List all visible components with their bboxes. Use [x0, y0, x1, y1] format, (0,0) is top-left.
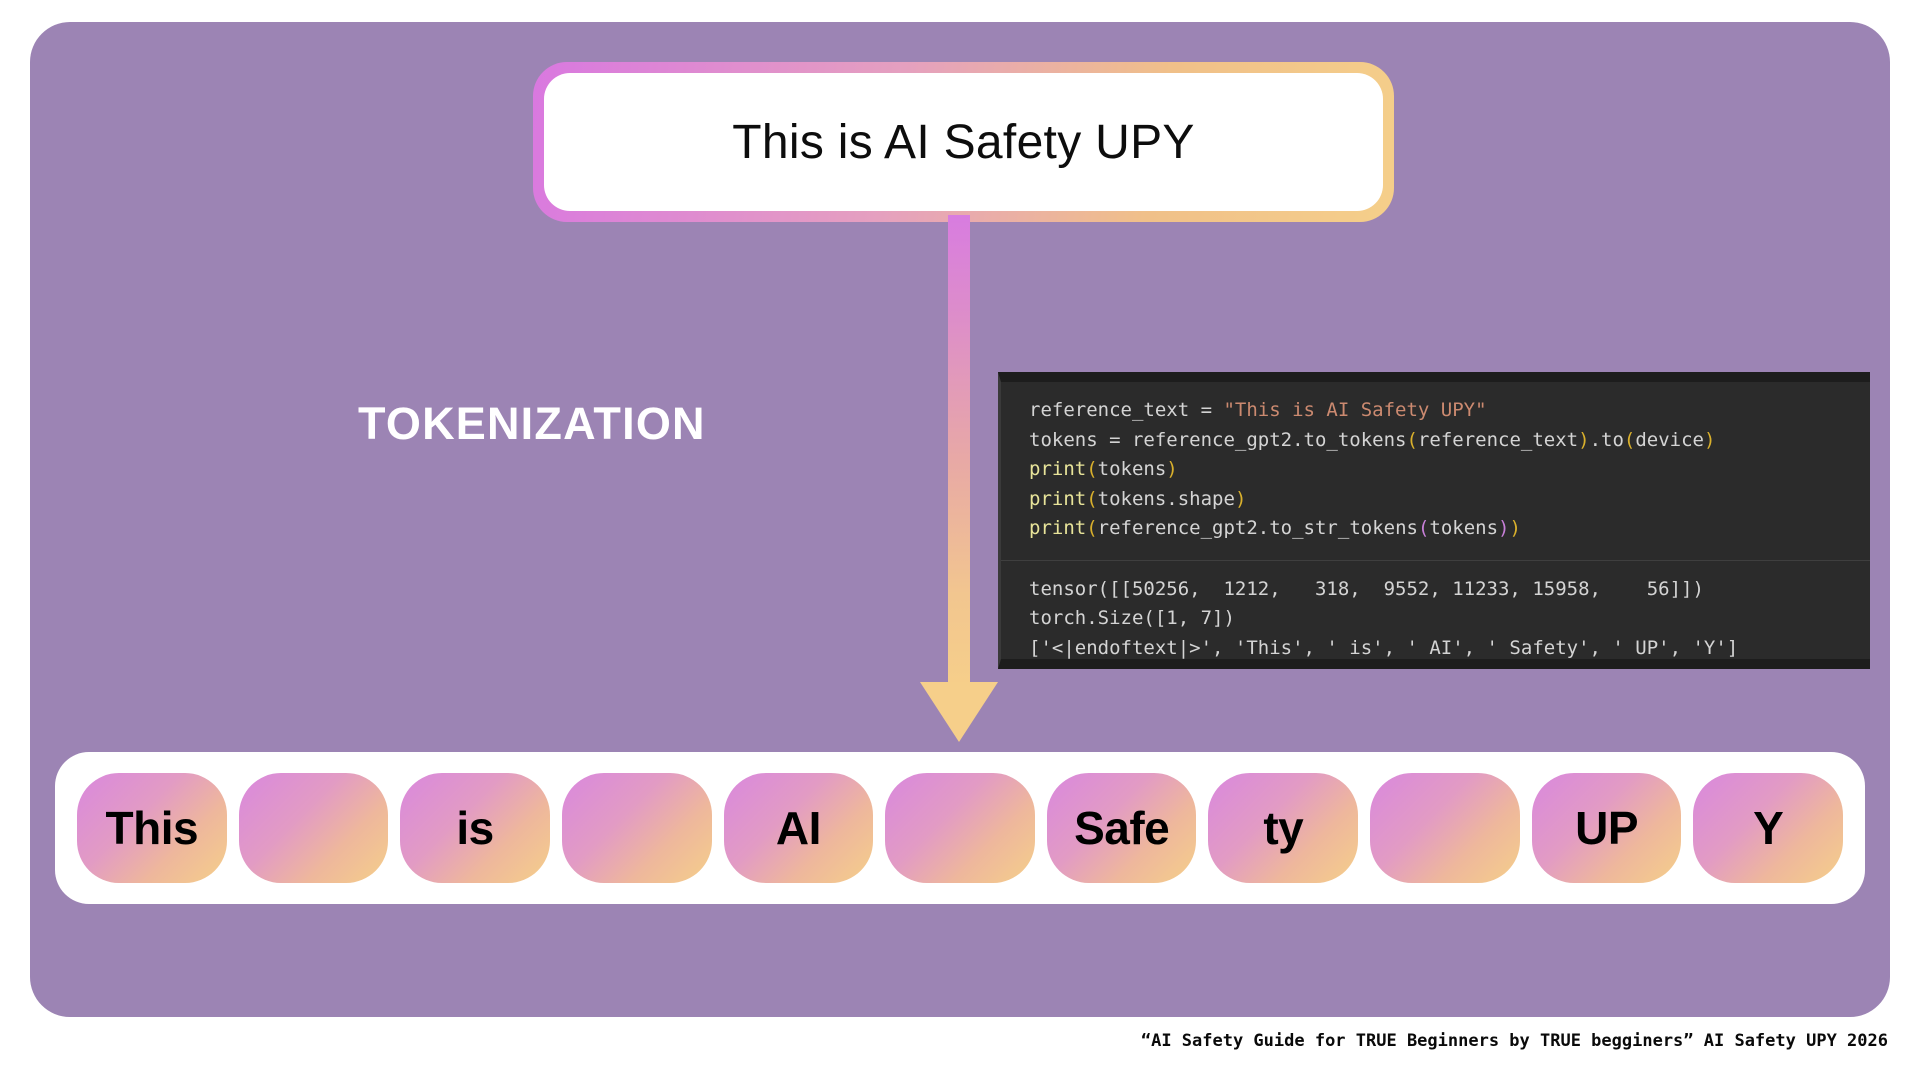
code-line: print(tokens.shape) — [1029, 485, 1870, 515]
stage-label-tokenization: TOKENIZATION — [358, 398, 706, 450]
code-output-line: tensor([[50256, 1212, 318, 9552, 11233, … — [1029, 575, 1870, 605]
code-token: ) — [1704, 429, 1715, 451]
flow-arrow-shaft — [948, 215, 970, 690]
footer-credit: “AI Safety Guide for TRUE Beginners by T… — [1141, 1031, 1888, 1051]
token-chip[interactable] — [1370, 773, 1520, 883]
token-chip-label: This — [106, 801, 199, 855]
code-token: ( — [1624, 429, 1635, 451]
code-token: ) — [1166, 458, 1177, 480]
code-token: ( — [1086, 458, 1097, 480]
token-chip[interactable]: Safe — [1047, 773, 1197, 883]
token-chip[interactable]: is — [400, 773, 550, 883]
token-chip-label: Y — [1753, 801, 1783, 855]
code-token: ) — [1498, 517, 1509, 539]
token-chip-label: is — [456, 801, 493, 855]
code-panel: reference_text = "This is AI Safety UPY"… — [998, 372, 1870, 669]
code-token: reference_gpt2.to_str_tokens — [1098, 517, 1418, 539]
code-token: device — [1635, 429, 1704, 451]
code-output-section: tensor([[50256, 1212, 318, 9552, 11233, … — [1001, 561, 1870, 670]
code-token: tokens.shape — [1098, 488, 1235, 510]
code-token: ( — [1407, 429, 1418, 451]
code-token: ( — [1418, 517, 1429, 539]
code-source-section: reference_text = "This is AI Safety UPY"… — [1001, 382, 1870, 554]
token-chip[interactable]: Y — [1693, 773, 1843, 883]
code-token: ) — [1578, 429, 1589, 451]
input-text-box[interactable]: This is AI Safety UPY — [533, 62, 1394, 222]
code-token: reference_text = — [1029, 399, 1223, 421]
token-chip-label: Safe — [1074, 801, 1169, 855]
code-line: reference_text = "This is AI Safety UPY" — [1029, 396, 1870, 426]
token-chip[interactable]: UP — [1532, 773, 1682, 883]
flow-arrow-head-icon — [920, 682, 998, 742]
code-token: ( — [1086, 517, 1097, 539]
code-token: .to — [1590, 429, 1624, 451]
code-token: print — [1029, 488, 1086, 510]
token-chip[interactable]: AI — [724, 773, 874, 883]
code-token: "This is AI Safety UPY" — [1223, 399, 1486, 421]
token-chip-strip: ThisisAISafetyUPY — [55, 752, 1865, 904]
code-token: ( — [1086, 488, 1097, 510]
token-chip-label: UP — [1575, 801, 1638, 855]
code-token: print — [1029, 517, 1086, 539]
code-token: print — [1029, 458, 1086, 480]
input-text-box-inner: This is AI Safety UPY — [544, 73, 1383, 211]
code-token: tokens — [1429, 517, 1498, 539]
token-chip-label: AI — [776, 801, 821, 855]
slide-root: This is AI Safety UPY TOKENIZATION refer… — [0, 0, 1920, 1080]
code-line: print(reference_gpt2.to_str_tokens(token… — [1029, 514, 1870, 544]
token-chip-label: ty — [1263, 801, 1303, 855]
code-token: ) — [1235, 488, 1246, 510]
code-token: ) — [1510, 517, 1521, 539]
code-token: reference_text — [1418, 429, 1578, 451]
code-token: tokens = reference_gpt2.to_tokens — [1029, 429, 1407, 451]
code-output-line: ['<|endoftext|>', 'This', ' is', ' AI', … — [1029, 634, 1870, 664]
token-chip[interactable]: This — [77, 773, 227, 883]
token-chip[interactable] — [885, 773, 1035, 883]
token-chip[interactable]: ty — [1208, 773, 1358, 883]
token-chip[interactable] — [562, 773, 712, 883]
code-output-line: torch.Size([1, 7]) — [1029, 604, 1870, 634]
input-text-value: This is AI Safety UPY — [732, 115, 1194, 170]
code-token: tokens — [1098, 458, 1167, 480]
code-line: print(tokens) — [1029, 455, 1870, 485]
token-chip[interactable] — [239, 773, 389, 883]
code-line: tokens = reference_gpt2.to_tokens(refere… — [1029, 426, 1870, 456]
